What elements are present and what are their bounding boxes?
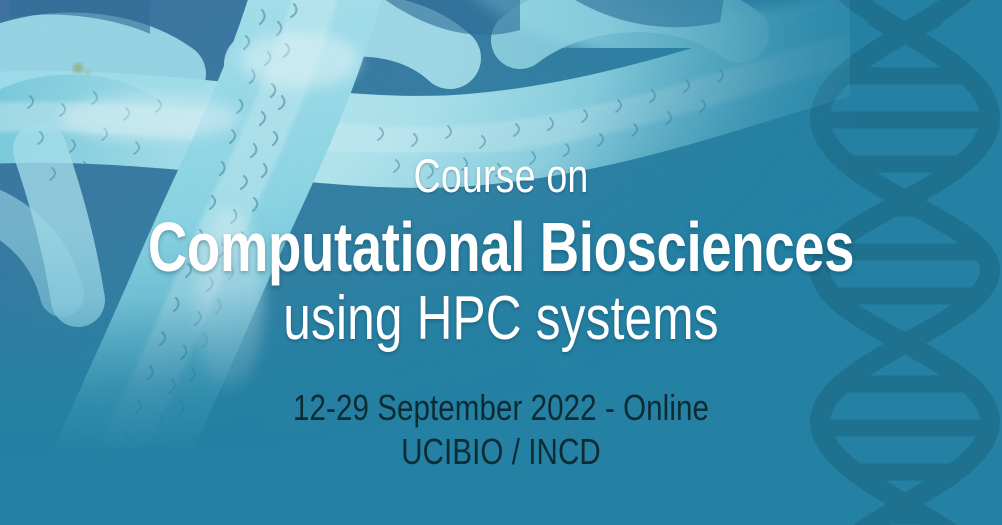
headline-subtitle: using HPC systems [100,288,902,350]
headline-kicker: Course on [100,152,902,199]
organisers: UCIBIO / INCD [90,434,912,470]
course-poster: Course on Computational Biosciences usin… [0,0,1002,525]
event-dates: 12-29 September 2022 - Online [90,390,912,426]
page-title: Computational Biosciences [110,212,892,282]
poster-text-block: Course on Computational Biosciences usin… [0,0,1002,525]
